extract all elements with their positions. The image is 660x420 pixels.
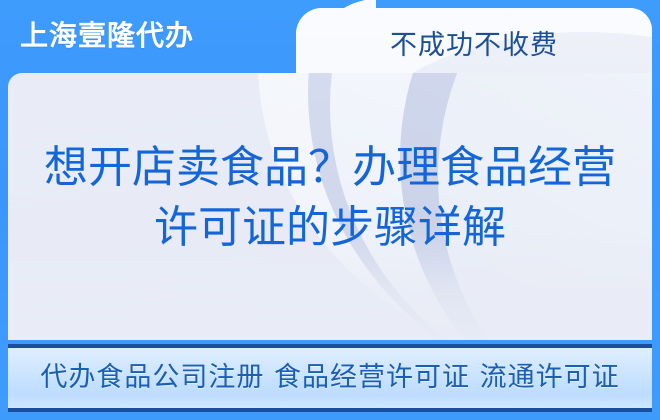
keyword-bar-text: 代办食品公司注册 食品经营许可证 流通许可证 bbox=[40, 360, 619, 396]
tagline-text: 不成功不收费 bbox=[296, 28, 652, 64]
keyword-bar: 代办食品公司注册 食品经营许可证 流通许可证 bbox=[8, 344, 652, 412]
headline: 想开店卖食品？办理食品经营 许可证的步骤详解 bbox=[0, 138, 660, 258]
headline-line-1: 想开店卖食品？办理食品经营 bbox=[0, 138, 660, 198]
brand-logo-text: 上海壹隆代办 bbox=[20, 16, 194, 56]
banner-canvas: 不成功不收费 上海壹隆代办 想开店卖食品？办理食品经营 许可证的步骤详解 代办食… bbox=[0, 0, 660, 420]
headline-line-2: 许可证的步骤详解 bbox=[0, 198, 660, 258]
bottom-blue-strip bbox=[0, 412, 660, 420]
